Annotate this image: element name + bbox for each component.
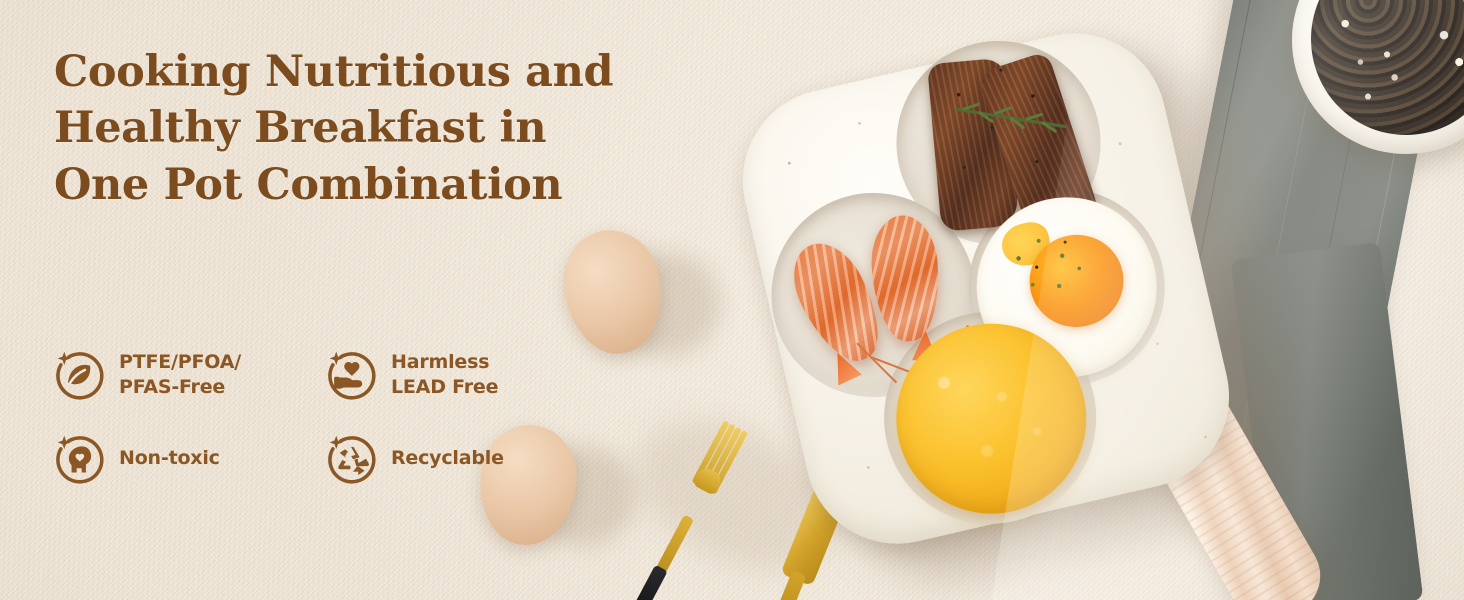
page-title: Cooking Nutritious and Healthy Breakfast…	[54, 44, 674, 213]
feature-non-toxic: Non-toxic	[52, 420, 324, 498]
feature-label: PTFE/PFOA/ PFAS-Free	[119, 350, 241, 401]
headline-line-2: Healthy Breakfast in	[54, 100, 674, 156]
feature-label: Recyclable	[391, 446, 504, 471]
feature-ptfe-pfoa-pfas-free: PTFE/PFOA/ PFAS-Free	[52, 330, 324, 420]
fork-black-handle	[632, 565, 668, 600]
headline-line-1: Cooking Nutritious and	[54, 44, 674, 100]
feature-label: Non-toxic	[119, 446, 220, 471]
feature-harmless-lead-free: Harmless LEAD Free	[324, 330, 596, 420]
recycle-icon	[324, 432, 378, 486]
copy-block: Cooking Nutritious and Healthy Breakfast…	[54, 44, 674, 213]
product-banner: Cooking Nutritious and Healthy Breakfast…	[0, 0, 1464, 600]
hand-heart-icon	[324, 348, 378, 402]
leaf-sparkle-icon	[52, 348, 106, 402]
head-heart-icon	[52, 432, 106, 486]
feature-label: Harmless LEAD Free	[391, 350, 498, 401]
peppercorn-fill	[1311, 0, 1464, 135]
headline-line-3: One Pot Combination	[54, 157, 674, 213]
feature-recyclable: Recyclable	[324, 420, 596, 498]
feature-badge-list: PTFE/PFOA/ PFAS-Free Harmless LEAD Free	[52, 330, 612, 498]
